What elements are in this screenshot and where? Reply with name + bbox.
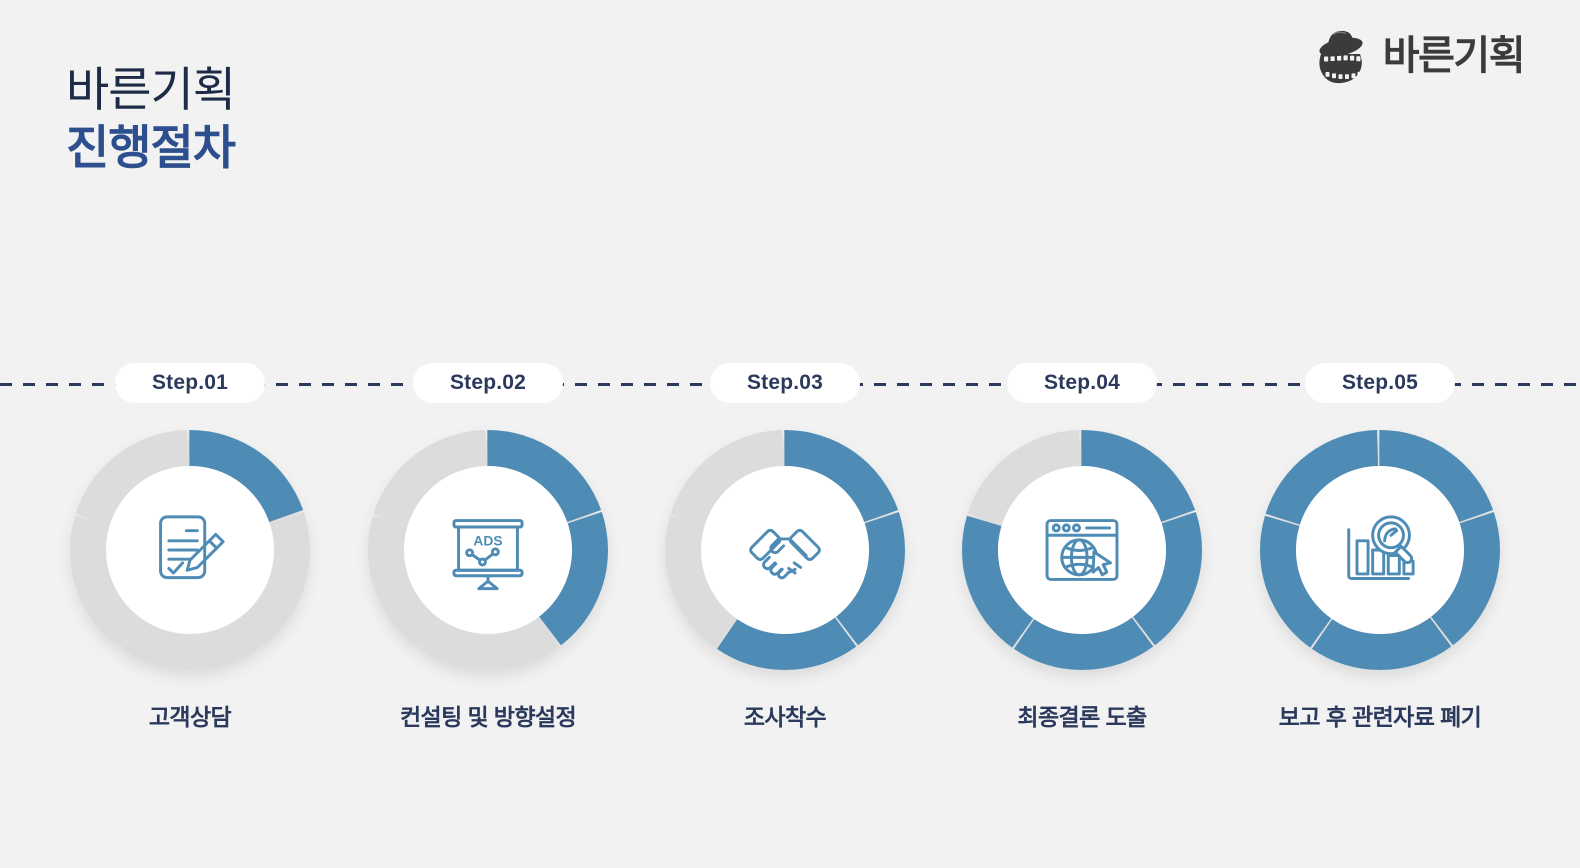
step-badge-3[interactable]: Step.03 [710,363,860,403]
presentation-board-ads-chart-icon: ADS [440,502,536,598]
progress-ring-3 [665,430,905,670]
step-item-4[interactable]: 최종결론 도출 [962,430,1202,732]
timeline: Step.01Step.02Step.03Step.04Step.05 [0,383,1580,385]
browser-globe-cursor-icon [1034,502,1130,598]
brand-logo-text: 바른기획 [1383,36,1524,76]
svg-text:ADS: ADS [473,533,502,548]
progress-ring-1 [70,430,310,670]
page-title: 바른기획 진행절차 [66,62,235,179]
page-title-line2: 진행절차 [66,117,235,178]
progress-ring-5 [1260,430,1500,670]
step-item-1[interactable]: 고객상담 [70,430,310,732]
brand-logo: 바른기획 [1311,28,1524,84]
document-checkmark-pencil-icon [142,502,238,598]
detective-hat-film-reel-icon [1311,28,1373,84]
step-label-2: 컨설팅 및 방향설정 [368,698,608,732]
step-item-5[interactable]: 보고 후 관련자료 폐기 [1260,430,1500,732]
step-item-2[interactable]: ADS 컨설팅 및 방향설정 [368,430,608,732]
step-label-5: 보고 후 관련자료 폐기 [1260,698,1500,732]
page-title-line1: 바른기획 [66,62,235,117]
step-label-1: 고객상담 [70,698,310,732]
step-badge-2[interactable]: Step.02 [413,363,563,403]
bar-chart-magnifier-icon [1332,502,1428,598]
step-badge-4[interactable]: Step.04 [1007,363,1157,403]
step-badge-5[interactable]: Step.05 [1305,363,1455,403]
step-badge-1[interactable]: Step.01 [115,363,265,403]
step-item-3[interactable]: 조사착수 [665,430,905,732]
progress-ring-4 [962,430,1202,670]
handshake-icon [737,502,833,598]
step-label-3: 조사착수 [665,698,905,732]
step-label-4: 최종결론 도출 [962,698,1202,732]
progress-ring-2: ADS [368,430,608,670]
